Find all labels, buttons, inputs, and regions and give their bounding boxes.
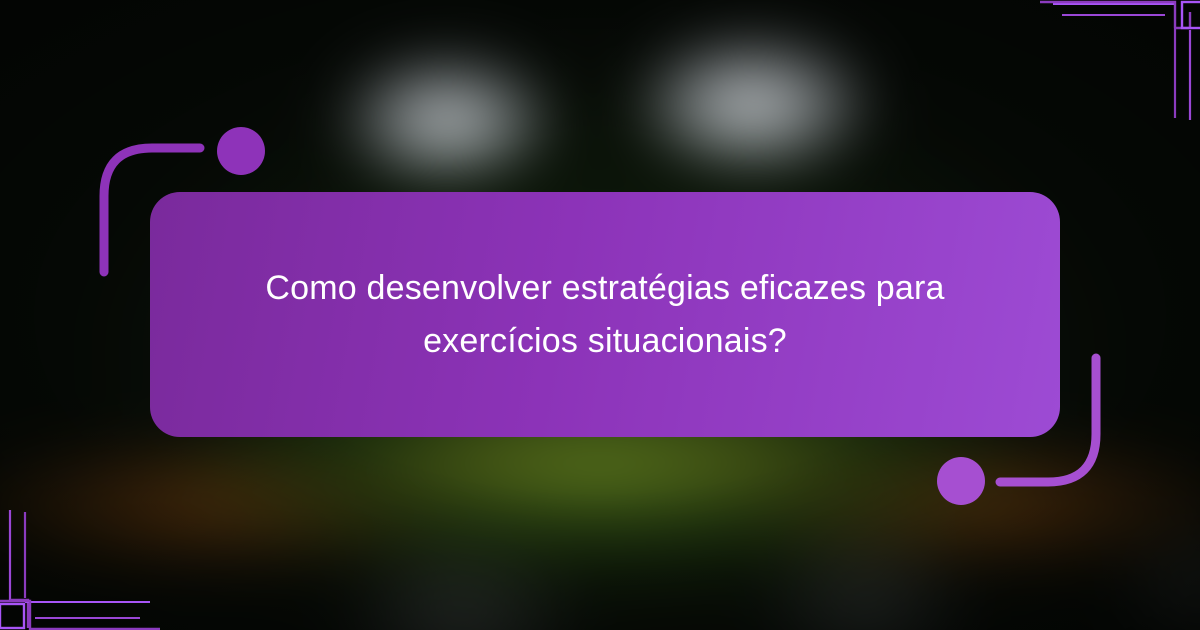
social-card-canvas: Como desenvolver estratégias eficazes pa…: [0, 0, 1200, 630]
page-title: Como desenvolver estratégias eficazes pa…: [220, 262, 990, 367]
question-card: Como desenvolver estratégias eficazes pa…: [150, 192, 1060, 437]
